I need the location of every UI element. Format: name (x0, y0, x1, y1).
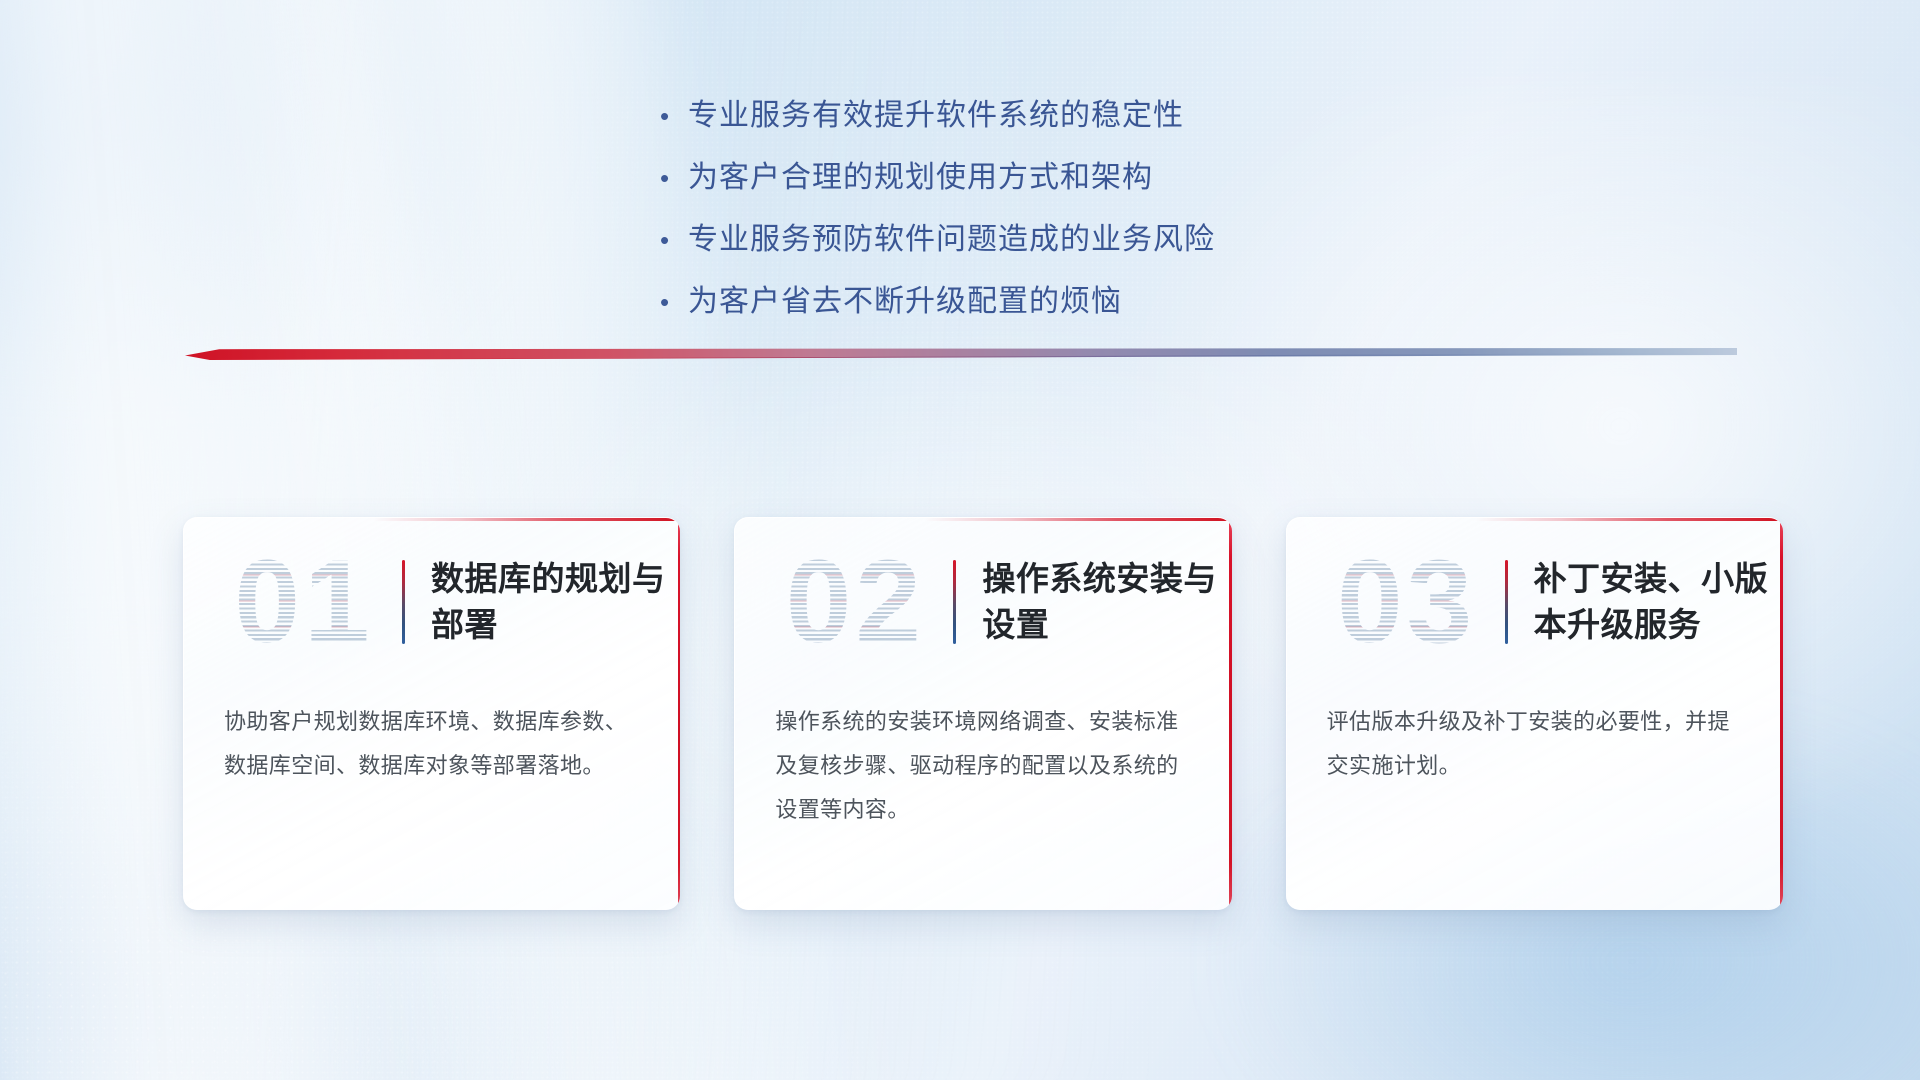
card-number-tint: 01 (206, 537, 402, 667)
benefits-bullet-list: • 专业服务有效提升软件系统的稳定性 • 为客户合理的规划使用方式和架构 • 专… (660, 95, 1420, 343)
card-description: 评估版本升级及补丁安装的必要性，并提交实施计划。 (1327, 700, 1743, 788)
card-number-tint: 03 (1309, 537, 1505, 667)
card-header: 02 02 操作系统安装与设置 (735, 518, 1231, 686)
service-cards: 01 01 数据库的规划与部署 协助客户规划数据库环境、数据库参数、数据库空间、… (183, 517, 1783, 917)
bullet-text: 为客户合理的规划使用方式和架构 (688, 157, 1153, 199)
card-description: 操作系统的安装环境网络调查、安装标准及复核步骤、驱动程序的配置以及系统的设置等内… (775, 700, 1191, 832)
card-header: 03 03 补丁安装、小版本升级服务 (1287, 518, 1783, 686)
card-number-watermark: 03 03 (1309, 537, 1505, 667)
service-card[interactable]: 03 03 补丁安装、小版本升级服务 评估版本升级及补丁安装的必要性，并提交实施… (1286, 517, 1783, 910)
card-number-watermark: 02 02 (757, 537, 953, 667)
card-title: 操作系统安装与设置 (982, 556, 1218, 648)
card-title-divider-bar (1505, 560, 1508, 644)
list-item: • 专业服务有效提升软件系统的稳定性 (660, 95, 1420, 137)
card-title: 数据库的规划与部署 (431, 556, 667, 648)
bullet-dot-icon: • (660, 219, 688, 261)
service-card[interactable]: 02 02 操作系统安装与设置 操作系统的安装环境网络调查、安装标准及复核步骤、… (734, 517, 1231, 910)
card-title-divider-bar (402, 560, 405, 644)
card-number-watermark: 01 01 (206, 537, 402, 667)
bullet-text: 专业服务预防软件问题造成的业务风险 (688, 219, 1215, 261)
card-header: 01 01 数据库的规划与部署 (184, 518, 680, 686)
service-card[interactable]: 01 01 数据库的规划与部署 协助客户规划数据库环境、数据库参数、数据库空间、… (183, 517, 680, 910)
bullet-text: 专业服务有效提升软件系统的稳定性 (688, 95, 1184, 137)
bullet-dot-icon: • (660, 281, 688, 323)
section-divider (185, 344, 1737, 366)
list-item: • 为客户省去不断升级配置的烦恼 (660, 281, 1420, 323)
bullet-text: 为客户省去不断升级配置的烦恼 (688, 281, 1122, 323)
list-item: • 专业服务预防软件问题造成的业务风险 (660, 219, 1420, 261)
bullet-dot-icon: • (660, 157, 688, 199)
card-number-tint: 02 (757, 537, 953, 667)
bullet-dot-icon: • (660, 95, 688, 137)
card-title: 补丁安装、小版本升级服务 (1534, 556, 1770, 648)
list-item: • 为客户合理的规划使用方式和架构 (660, 157, 1420, 199)
card-title-divider-bar (953, 560, 956, 644)
card-description: 协助客户规划数据库环境、数据库参数、数据库空间、数据库对象等部署落地。 (224, 700, 640, 788)
